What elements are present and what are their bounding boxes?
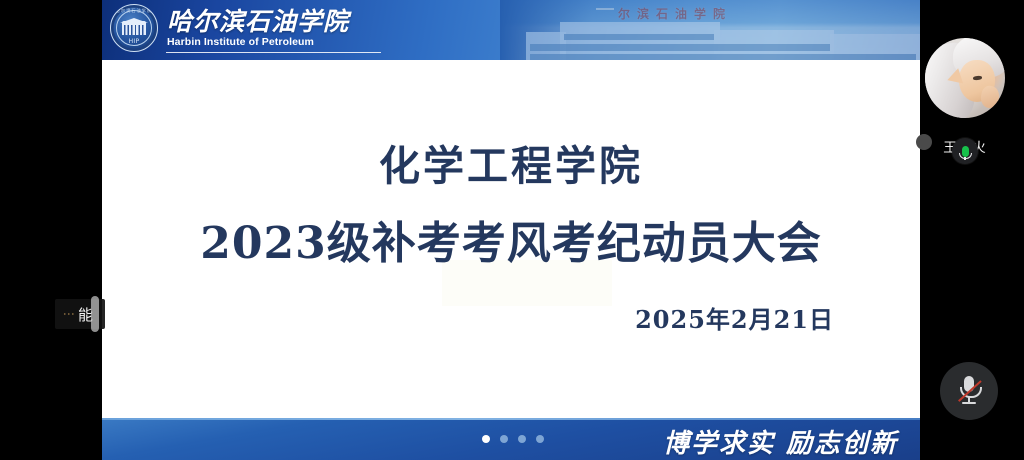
school-name-en: Harbin Institute of Petroleum: [167, 37, 349, 48]
participant-status-dot: [916, 134, 932, 150]
brand-underline-rule: [166, 52, 381, 53]
crest-arc-text: 哈尔滨石油学院: [111, 8, 157, 14]
slide-progress-dots: [482, 435, 544, 443]
school-name-block: 哈尔滨石油学院 Harbin Institute of Petroleum: [167, 9, 349, 48]
mic-base-shape: [962, 402, 976, 404]
building-sign-text: 尔滨石油学院: [618, 5, 732, 22]
slide-date: 2025年2月21日: [635, 300, 834, 335]
slide-footer-band: 博学求实 励志创新: [102, 418, 920, 460]
mute-toggle-button[interactable]: [940, 362, 998, 420]
footer-highlight-line: [102, 418, 920, 420]
crest-abbr-text: HIP: [111, 38, 157, 45]
flagpole-shape: [596, 8, 614, 10]
university-crest-icon: 哈尔滨石油学院 HIP: [110, 4, 158, 52]
mic-post-shape: [964, 157, 966, 160]
slide-title-line-1: 化学工程学院: [102, 132, 920, 192]
slide-dot-1: [482, 435, 490, 443]
crest-columns-shape: [124, 25, 144, 35]
slide-dot-2: [500, 435, 508, 443]
window-row-middle: [530, 44, 830, 51]
campus-building-photo: 尔滨石油学院: [500, 0, 920, 60]
microphone-muted-icon: [958, 376, 980, 406]
school-name-cn: 哈尔滨石油学院: [167, 9, 349, 34]
microphone-active-icon: [952, 138, 978, 164]
slide-title-line-2: 2023级补考考风考纪动员大会: [102, 207, 920, 271]
participant-tile[interactable]: 王火火: [914, 38, 1016, 156]
school-motto: 博学求实 励志创新: [663, 423, 898, 460]
slide-dot-3: [518, 435, 526, 443]
shared-slide[interactable]: 尔滨石油学院 哈尔滨石油学院 HIP 哈尔: [102, 0, 920, 460]
window-row-upper: [564, 34, 714, 40]
avatar-hand: [979, 84, 1001, 109]
slide-header-band: 尔滨石油学院 哈尔滨石油学院 HIP 哈尔: [102, 0, 920, 60]
meeting-screen-share-view: 尔滨石油学院 哈尔滨石油学院 HIP 哈尔: [0, 0, 1024, 460]
chat-overflow-icon: ⋮: [63, 308, 75, 320]
school-branding: 哈尔滨石油学院 HIP 哈尔滨石油学院 Harbin Institute of …: [110, 4, 349, 52]
chat-scrollbar-thumb[interactable]: [91, 296, 99, 332]
slide-dot-4: [536, 435, 544, 443]
slide-body: 化学工程学院 2023级补考考风考纪动员大会 2025年2月21日: [102, 60, 920, 418]
avatar[interactable]: [925, 38, 1005, 118]
